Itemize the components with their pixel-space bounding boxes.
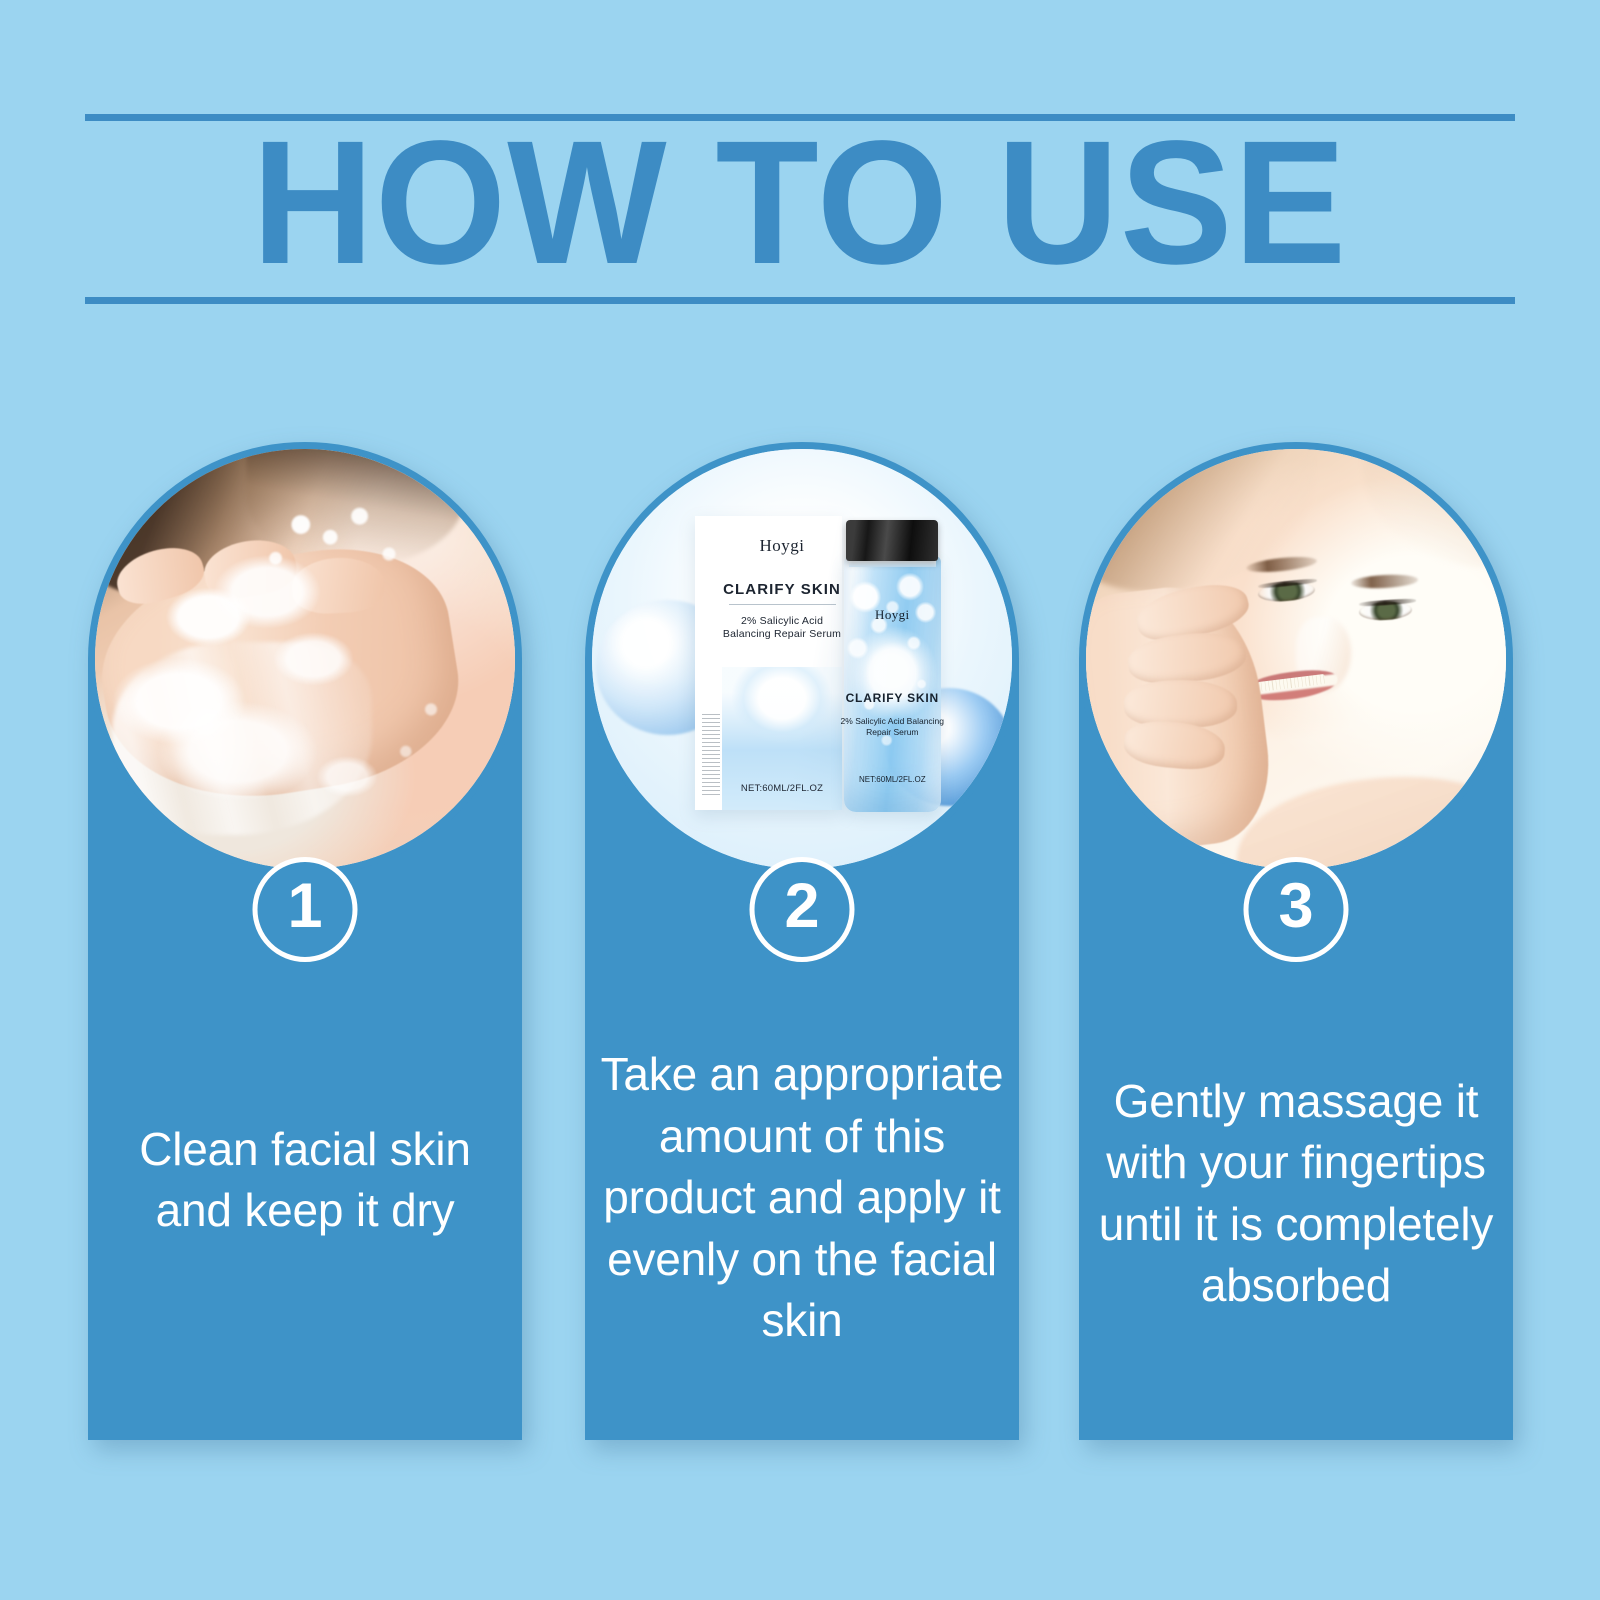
bottle-neck	[849, 560, 936, 567]
step-2-photo: Hoygi CLARIFY SKIN 2% Salicylic Acid Bal…	[592, 449, 1012, 869]
product-box-fine-print	[702, 714, 720, 798]
step-caption-3: Gently massage it with your fingertips u…	[1093, 1071, 1499, 1318]
step-card-3[interactable]: 3 Gently massage it with your fingertips…	[1079, 442, 1513, 1440]
step-badge-2: 2	[750, 857, 855, 962]
bottle-name: CLARIFY SKIN	[840, 691, 945, 707]
product-box-divider	[729, 604, 836, 605]
step-caption-1: Clean facial skin and keep it dry	[102, 1119, 508, 1242]
step-1-photo	[95, 449, 515, 869]
step-caption-2: Take an appropriate amount of this produ…	[599, 1044, 1005, 1352]
photo-product-shot: Hoygi CLARIFY SKIN 2% Salicylic Acid Bal…	[592, 449, 1012, 869]
step-badge-3: 3	[1244, 857, 1349, 962]
step-3-photo	[1086, 449, 1506, 869]
photo-massaging-face	[1086, 449, 1506, 869]
shoulder-shape	[1237, 777, 1506, 869]
product-box-subtitle: 2% Salicylic Acid Balancing Repair Serum	[722, 615, 842, 641]
step-number-2: 2	[784, 875, 819, 938]
photo-washing-face	[95, 449, 515, 869]
steps-container: 1 Clean facial skin and keep it dry Hoyg…	[0, 0, 1600, 1600]
step-number-1: 1	[287, 875, 322, 938]
bottle-net-volume: NET:60ML/2FL.OZ	[840, 775, 945, 785]
eyebrow-shape	[1350, 573, 1418, 590]
step-badge-1: 1	[253, 857, 358, 962]
bottle-subtitle: 2% Salicylic Acid Balancing Repair Serum	[840, 716, 945, 738]
product-box-net-volume: NET:60ML/2FL.OZ	[722, 783, 842, 795]
product-box-name: CLARIFY SKIN	[722, 581, 842, 600]
water-droplets	[95, 449, 515, 869]
step-card-1[interactable]: 1 Clean facial skin and keep it dry	[88, 442, 522, 1440]
product-box-brand: Hoygi	[722, 535, 842, 556]
hair-shape-secondary	[1363, 449, 1506, 567]
step-card-2[interactable]: Hoygi CLARIFY SKIN 2% Salicylic Acid Bal…	[585, 442, 1019, 1440]
bottle-cap	[846, 520, 938, 560]
step-number-3: 3	[1278, 875, 1313, 938]
bottle-brand: Hoygi	[840, 607, 945, 624]
